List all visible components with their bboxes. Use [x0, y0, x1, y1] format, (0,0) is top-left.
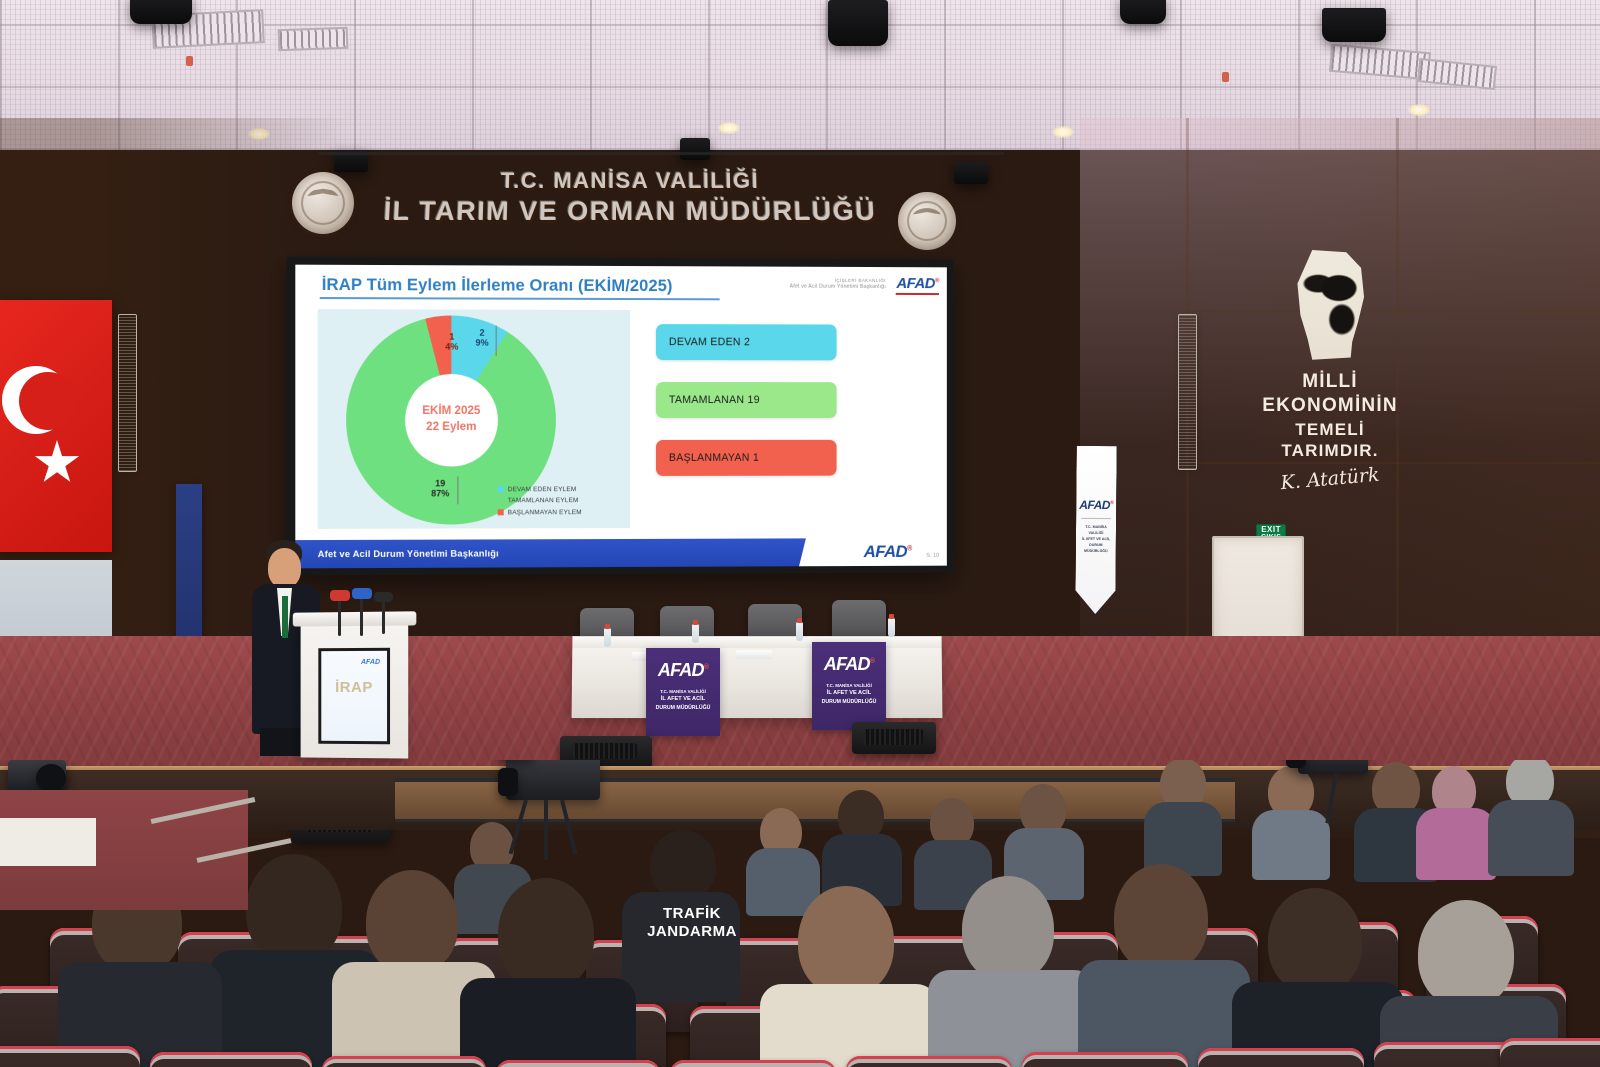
donut-center-line1: EKİM 2025 — [422, 404, 480, 420]
audience-head — [366, 870, 458, 974]
donut-label-baslanmayan: 1 4% — [445, 332, 458, 353]
slide-number: S. 10 — [926, 553, 939, 559]
ataturk-quote-line4: TARIMDIR. — [1245, 440, 1415, 462]
jandarma-vest-line2: JANDARMA — [636, 924, 748, 940]
ceiling-speaker-1 — [130, 0, 192, 24]
speaker-tie — [282, 596, 288, 638]
hanging-banner-sub1: T.C. MANİSA VALİLİĞİ — [1078, 524, 1114, 537]
light-track-rail — [318, 152, 1004, 155]
projection-screen: İRAP Tüm Eylem İlerleme Oranı (EKİM/2025… — [286, 257, 954, 576]
microphone-head-3 — [374, 592, 393, 602]
conference-hall-photo: T.C. MANİSA VALİLİĞİ İL TARIM VE ORMAN M… — [0, 0, 1600, 1067]
ministry-line1: İÇİŞLERİ BAKANLIĞI — [790, 278, 886, 283]
tv-camera — [506, 760, 600, 800]
water-bottle-1 — [604, 628, 611, 647]
water-bottle-3 — [796, 622, 803, 641]
status-box-baslanmayan: BAŞLANMAYAN 1 — [656, 440, 837, 476]
table-banner-right-sub1: T.C. MANİSA VALİLİĞİ — [814, 682, 884, 689]
slide-afad-logo-text: AFAD — [896, 275, 935, 292]
ataturk-quote-line2: EKONOMİNİN — [1245, 394, 1415, 418]
sprinkler-head-2 — [1222, 72, 1229, 82]
wall-heater-right — [1178, 314, 1197, 470]
flag-crescent — [2, 366, 70, 434]
audience-torso — [1252, 810, 1330, 880]
donut-label-tamamlanan-value: 19 — [431, 478, 449, 488]
table-banner-right-logo-text: AFAD — [824, 654, 870, 674]
exit-sign-right-primary: EXIT — [1261, 526, 1281, 534]
legend-label-baslanmayan: BAŞLANMAYAN EYLEM — [508, 509, 582, 516]
microphone-stand-3 — [382, 600, 385, 634]
podium-irap-title: İRAP — [335, 679, 373, 696]
microphone-head-1 — [330, 590, 350, 601]
slide-footer-text: Afet ve Acil Durum Yönetimi Başkanlığı — [318, 548, 499, 559]
table-banner-left-sub3: DURUM MÜDÜRLÜĞÜ — [648, 704, 718, 712]
table-banner-left-logo: AFAD® — [646, 660, 720, 681]
podium-afad-logo: AFAD — [361, 659, 380, 666]
table-banner-right: AFAD® T.C. MANİSA VALİLİĞİ İL AFET VE AC… — [812, 642, 886, 730]
ceiling-vent-left-2 — [278, 27, 349, 51]
podium-top-surface — [293, 611, 417, 626]
auditorium-seat[interactable] — [846, 1056, 1012, 1067]
auditorium-seat[interactable] — [496, 1060, 660, 1067]
table-banner-right-mark-icon: ® — [870, 658, 874, 665]
table-banner-right-subtitle: T.C. MANİSA VALİLİĞİ İL AFET VE ACİL DUR… — [814, 682, 884, 706]
wall-sign-line2: İL TARIM VE ORMAN MÜDÜRLÜĞÜ — [299, 196, 961, 227]
ataturk-portrait-icon — [1293, 250, 1367, 362]
audience-head — [798, 886, 894, 996]
press-tripod-leg — [1325, 774, 1338, 824]
ceiling-speaker-2 — [828, 0, 888, 46]
microphone-stand-2 — [360, 598, 363, 636]
wall-institution-sign: T.C. MANİSA VALİLİĞİ İL TARIM VE ORMAN M… — [300, 168, 960, 227]
hanging-banner-mark-icon: ® — [1110, 500, 1113, 506]
legend-item: DEVAM EDEN EYLEM — [498, 486, 582, 493]
legend-label-tamamlanan: TAMAMLANAN EYLEM — [508, 497, 579, 504]
audience-torso — [760, 984, 938, 1067]
table-banner-left-sub1: T.C. MANİSA VALİLİĞİ — [648, 688, 718, 695]
table-banner-left-sub2: İL AFET VE ACİL — [648, 695, 718, 704]
ceiling-speaker-4 — [1322, 8, 1386, 42]
donut-leader-line-cyan — [496, 326, 497, 356]
auditorium-seat[interactable] — [0, 1046, 140, 1067]
donut-center-line2: 22 Eylem — [426, 420, 476, 436]
speaker-head — [268, 548, 301, 588]
hanging-banner-logo-text: AFAD — [1079, 498, 1110, 512]
flag-star — [34, 440, 80, 486]
donut-label-devam-eden: 2 9% — [476, 328, 489, 349]
auditorium-seat[interactable] — [1022, 1052, 1188, 1067]
slide-footer-afad-text: AFAD — [864, 542, 907, 561]
microphone-stand-1 — [338, 600, 341, 636]
legend-item: BAŞLANMAYAN EYLEM — [498, 509, 582, 516]
donut-label-tamamlanan: 19 87% — [431, 478, 449, 499]
head-table — [572, 636, 943, 718]
tripod-leg-right — [560, 800, 577, 855]
hanging-banner-rule — [1081, 518, 1111, 519]
legend-swatch-baslanmayan — [498, 509, 504, 515]
head-table-top — [572, 636, 941, 648]
press-table-white — [0, 818, 96, 866]
ataturk-wall-art: MİLLİ EKONOMİNİN TEMELİ TARIMDIR. K. Ata… — [1245, 250, 1415, 490]
hanging-banner-logo: AFAD® — [1076, 498, 1116, 512]
hanging-banner-subtitle: T.C. MANİSA VALİLİĞİ İL AFET VE ACİL DUR… — [1078, 524, 1114, 555]
table-banner-right-logo: AFAD® — [812, 654, 886, 675]
legend-item: TAMAMLANAN EYLEM — [498, 497, 582, 504]
audience-head — [1268, 888, 1362, 994]
audience-head — [1114, 864, 1208, 972]
audience-head — [1418, 900, 1514, 1008]
status-box-baslanmayan-label: BAŞLANMAYAN 1 — [669, 452, 759, 464]
donut-label-devam-eden-value: 2 — [476, 328, 489, 338]
legend-swatch-tamamlanan — [498, 498, 504, 504]
water-bottle-2 — [692, 624, 699, 643]
donut-label-devam-eden-percent: 9% — [476, 338, 489, 348]
donut-label-tamamlanan-percent: 87% — [431, 489, 449, 499]
ataturk-quote-line1: MİLLİ — [1245, 370, 1415, 394]
auditorium-seat[interactable] — [150, 1052, 312, 1067]
table-banner-left: AFAD® T.C. MANİSA VALİLİĞİ İL AFET VE AC… — [646, 648, 720, 736]
hanging-banner-sub3: DURUM MÜDÜRLÜĞÜ — [1078, 542, 1114, 555]
donut-center-label: EKİM 2025 22 Eylem — [405, 374, 497, 466]
chart-legend: DEVAM EDEN EYLEM TAMAMLANAN EYLEM BAŞLAN… — [498, 486, 582, 521]
press-camera-right-lens — [1286, 760, 1306, 768]
tripod-leg-center — [544, 800, 548, 860]
sprinkler-head-1 — [186, 56, 193, 66]
table-banner-right-sub2: İL AFET VE ACİL — [814, 689, 884, 698]
donut-leader-line-green — [457, 476, 458, 504]
tv-camera-lens — [498, 768, 518, 796]
slide-afad-logo: AFAD® — [896, 275, 939, 292]
afad-hanging-banner: AFAD® T.C. MANİSA VALİLİĞİ İL AFET VE AC… — [1075, 446, 1116, 614]
audience-head — [246, 854, 342, 964]
podium: AFAD İRAP — [301, 621, 409, 758]
press-camera-left-lens — [36, 764, 66, 792]
water-bottle-4 — [888, 618, 895, 637]
table-banner-right-sub3: DURUM MÜDÜRLÜĞÜ — [814, 698, 884, 706]
chart-panel: EKİM 2025 22 Eylem 2 9% 1 4% 19 87% — [318, 309, 630, 529]
slide-ministry-brand: İÇİŞLERİ BAKANLIĞI Afet ve Acil Durum Yö… — [790, 278, 886, 290]
press-camera-right — [1298, 760, 1368, 774]
audience-head — [498, 878, 594, 990]
ceiling-downlight-3 — [1408, 104, 1430, 116]
audience-head — [650, 830, 716, 900]
donut-label-baslanmayan-percent: 4% — [445, 342, 458, 352]
audience-torso — [1416, 808, 1496, 880]
donut-label-baslanmayan-value: 1 — [445, 332, 458, 342]
stage-monitor-2 — [852, 722, 936, 754]
microphone-head-2 — [352, 588, 372, 599]
audience-head — [962, 876, 1054, 982]
status-box-tamamlanan-label: TAMAMLANAN 19 — [669, 394, 760, 406]
footer-registered-mark-icon: ® — [907, 545, 911, 552]
table-banner-left-subtitle: T.C. MANİSA VALİLİĞİ İL AFET VE ACİL DUR… — [648, 688, 718, 712]
status-box-devam-eden: DEVAM EDEN 2 — [656, 324, 837, 360]
tripod-leg-left — [509, 799, 528, 854]
auditorium-seat[interactable] — [1198, 1048, 1364, 1067]
audience-torso — [460, 978, 636, 1067]
jandarma-vest-line1: TRAFİK — [642, 906, 742, 922]
presentation-slide: İRAP Tüm Eylem İlerleme Oranı (EKİM/2025… — [295, 265, 947, 569]
status-box-devam-eden-label: DEVAM EDEN 2 — [669, 336, 750, 348]
track-light-2 — [680, 138, 710, 160]
table-banner-left-logo-text: AFAD — [658, 660, 704, 680]
turkish-flag — [0, 300, 112, 552]
audience-torso — [1488, 800, 1574, 876]
status-box-column: DEVAM EDEN 2 TAMAMLANAN 19 BAŞLANMAYAN 1 — [656, 324, 837, 498]
ceiling-speaker-3 — [1120, 0, 1166, 24]
wall-heater-left — [118, 314, 137, 472]
slide-afad-logo-underline — [896, 293, 939, 295]
podium-display: AFAD İRAP — [318, 648, 390, 745]
ministry-line2: Afet ve Acil Durum Yönetimi Başkanlığı — [790, 284, 886, 290]
legend-label-devam-eden: DEVAM EDEN EYLEM — [508, 486, 577, 493]
registered-mark-icon: ® — [935, 278, 939, 284]
wall-sign-line1: T.C. MANİSA VALİLİĞİ — [299, 168, 961, 194]
nameplate-2 — [736, 650, 772, 659]
auditorium-seat[interactable] — [1500, 1038, 1600, 1067]
slide-title: İRAP Tüm Eylem İlerleme Oranı (EKİM/2025… — [322, 276, 673, 296]
auditorium-seat[interactable] — [322, 1056, 486, 1067]
legend-swatch-devam-eden — [498, 486, 504, 492]
status-box-tamamlanan: TAMAMLANAN 19 — [656, 382, 837, 418]
table-banner-left-mark-icon: ® — [704, 664, 708, 671]
slide-title-underline — [320, 297, 720, 300]
slide-footer-afad-logo: AFAD® — [864, 542, 912, 562]
auditorium-seat[interactable] — [670, 1060, 836, 1067]
ataturk-quote-line3: TEMELİ — [1245, 419, 1415, 441]
